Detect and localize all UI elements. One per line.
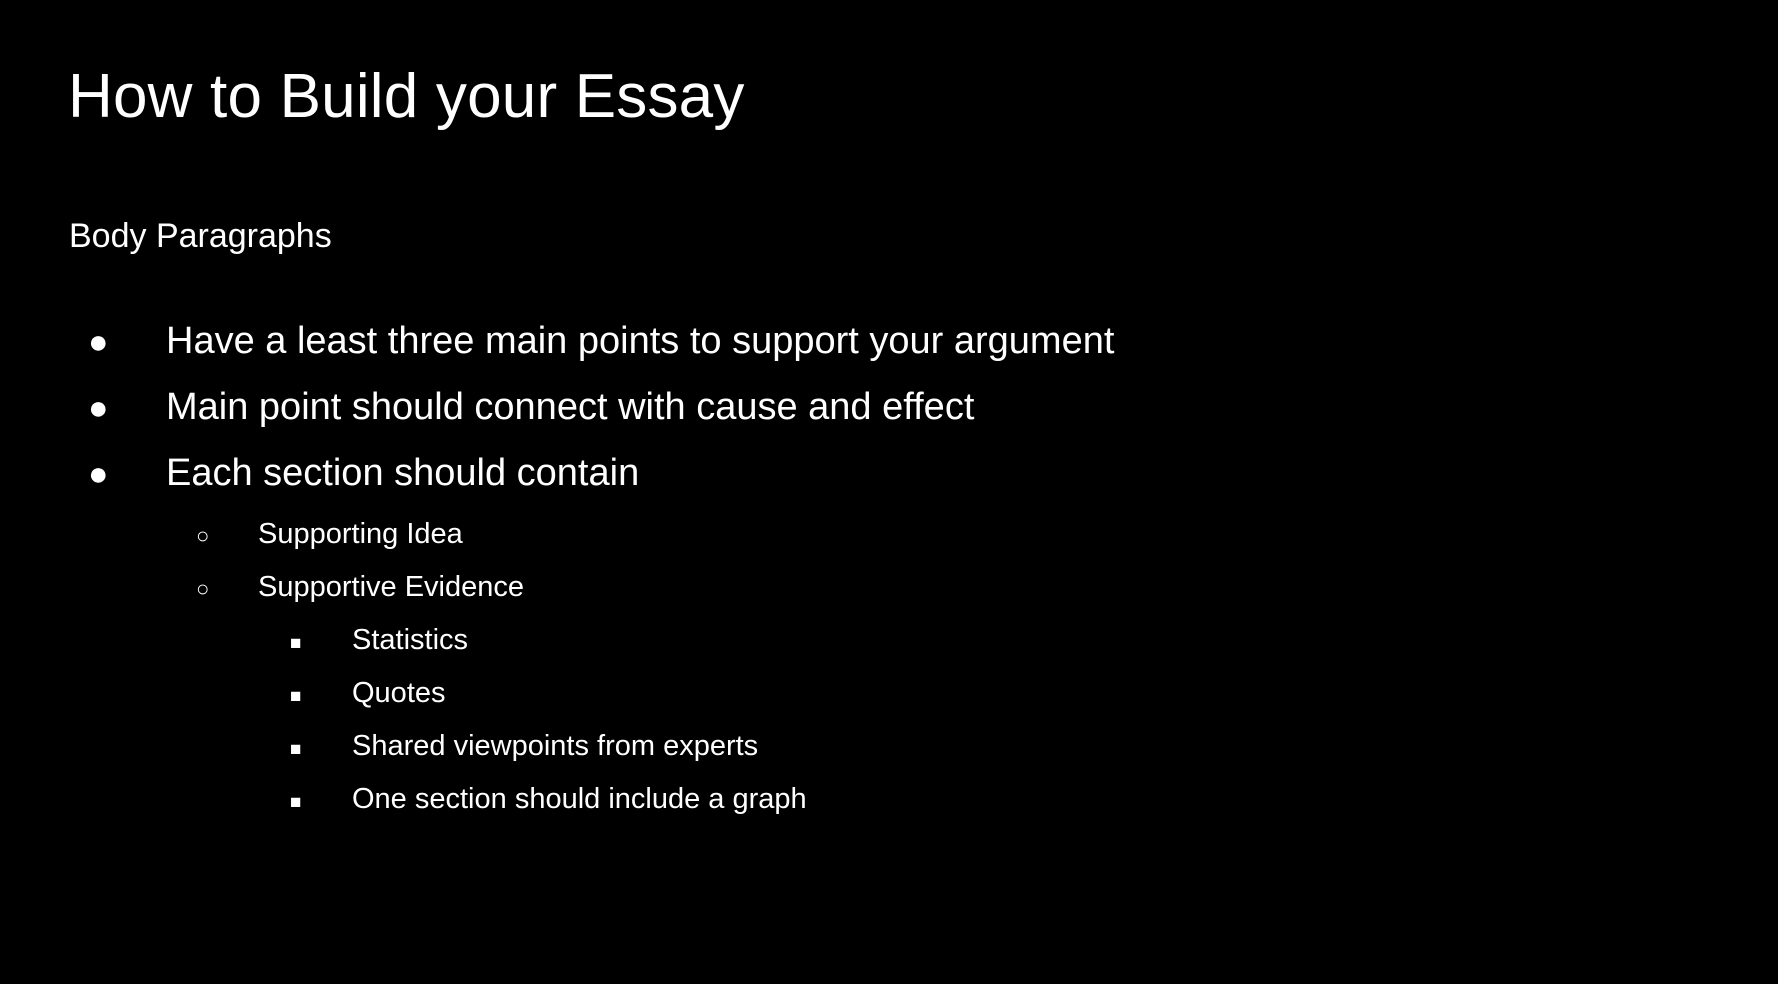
list-item: ■ Shared viewpoints from experts [0,732,1778,785]
bullet-list: ● Have a least three main points to supp… [0,322,1778,838]
hollow-circle-bullet-icon: ○ [196,525,258,547]
list-item: ● Each section should contain [0,454,1778,520]
filled-square-bullet-icon: ■ [290,687,352,706]
list-item: ● Main point should connect with cause a… [0,388,1778,454]
list-item-label: Main point should connect with cause and… [166,388,974,426]
list-item: ○ Supporting Idea [0,520,1778,573]
list-item-label: Supporting Idea [258,520,463,549]
list-item: ■ Statistics [0,626,1778,679]
list-item: ○ Supportive Evidence [0,573,1778,626]
filled-square-bullet-icon: ■ [290,740,352,759]
filled-square-bullet-icon: ■ [290,793,352,812]
slide-title: How to Build your Essay [68,62,745,131]
list-item-label: One section should include a graph [352,785,807,814]
hollow-circle-bullet-icon: ○ [196,578,258,600]
list-item-label: Statistics [352,626,468,655]
list-item: ■ One section should include a graph [0,785,1778,838]
list-item-label: Shared viewpoints from experts [352,732,758,761]
presentation-slide: How to Build your Essay Body Paragraphs … [0,0,1778,984]
filled-circle-bullet-icon: ● [88,391,166,425]
filled-square-bullet-icon: ■ [290,634,352,653]
filled-circle-bullet-icon: ● [88,457,166,491]
list-item: ■ Quotes [0,679,1778,732]
filled-circle-bullet-icon: ● [88,325,166,359]
list-item-label: Quotes [352,679,446,708]
slide-subtitle: Body Paragraphs [69,216,332,257]
list-item-label: Each section should contain [166,454,639,492]
list-item-label: Supportive Evidence [258,573,524,602]
list-item: ● Have a least three main points to supp… [0,322,1778,388]
list-item-label: Have a least three main points to suppor… [166,322,1114,360]
